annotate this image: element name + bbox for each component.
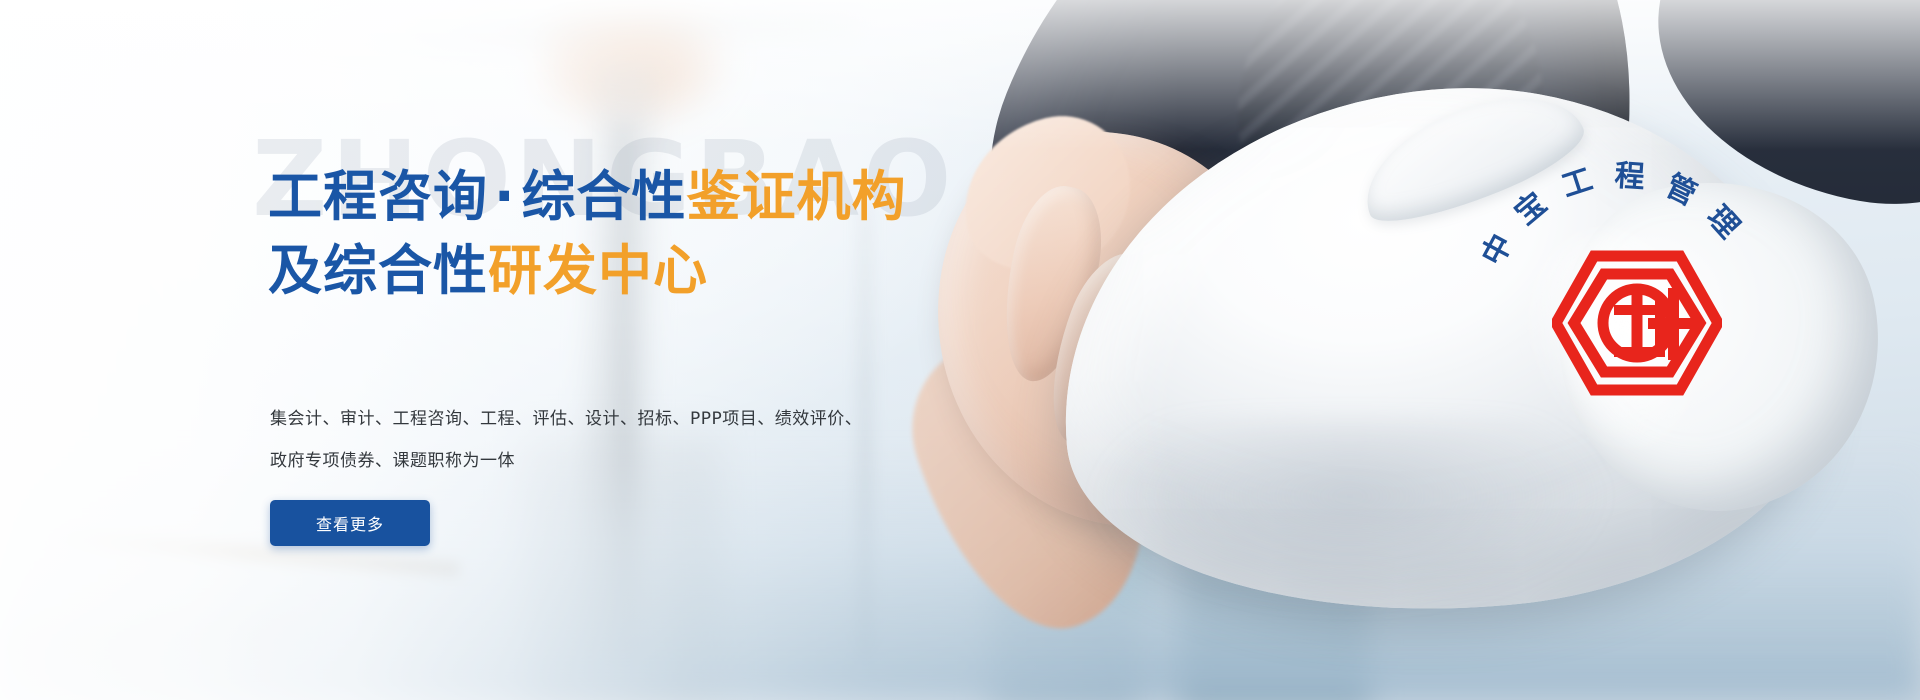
view-more-button[interactable]: 查看更多	[270, 500, 430, 546]
hero-description-line-2: 政府专项债券、课题职称为一体	[270, 440, 970, 482]
hero-description-line-1: 集会计、审计、工程咨询、工程、评估、设计、招标、PPP项目、绩效评价、	[270, 398, 970, 440]
hard-hat-arc-char: 工	[1555, 154, 1597, 205]
hard-hat-arc-char: 宝	[1503, 180, 1554, 233]
hard-hat-arc-char: 中	[1468, 225, 1521, 272]
headline-line2-part1: 及综合性	[268, 239, 488, 302]
hard-hat-arc-char: 程	[1613, 150, 1646, 196]
headline-line-1: 工程咨询·综合性鉴证机构	[268, 160, 1168, 234]
zhongbao-hexagon-emblem-icon	[1552, 248, 1722, 398]
headline-block: 工程咨询·综合性鉴证机构 及综合性研发中心	[268, 160, 1168, 308]
hero-content: ZHONGBAO 工程咨询·综合性鉴证机构 及综合性研发中心 集会计、审计、工程…	[268, 0, 1188, 700]
headline-line1-highlight: 鉴证机构	[687, 165, 907, 228]
headline-line2-highlight: 研发中心	[488, 239, 708, 302]
headline-separator: ·	[488, 165, 522, 228]
hard-hat-arc-char: 理	[1699, 194, 1752, 246]
hero-banner: 中宝工程管理 ZHONGBAO 工程咨询·综合性鉴证机构	[0, 0, 1920, 700]
headline-line1-part2: 综合性	[522, 165, 687, 228]
hero-description: 集会计、审计、工程咨询、工程、评估、设计、招标、PPP项目、绩效评价、 政府专项…	[270, 398, 970, 482]
headline-line1-part1: 工程咨询	[268, 165, 488, 228]
headline-line-2: 及综合性研发中心	[268, 234, 1168, 308]
hard-hat-arc-char: 管	[1659, 161, 1705, 214]
